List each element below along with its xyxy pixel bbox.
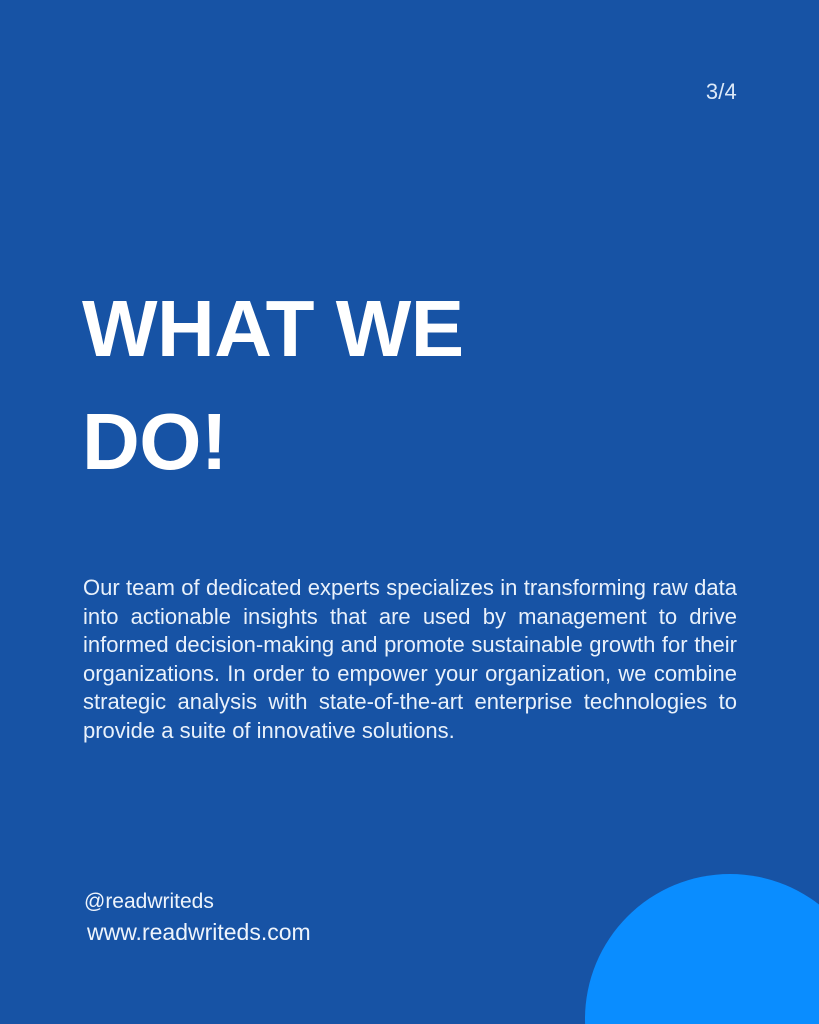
footer-contact: @readwriteds www.readwriteds.com [84,886,311,948]
page-title-line-1: WHAT WE [82,272,742,385]
page-indicator: 3/4 [617,79,737,105]
decorative-corner-circle [585,874,819,1024]
page-title: WHAT WE DO! [82,272,742,498]
social-handle: @readwriteds [84,886,311,917]
body-paragraph: Our team of dedicated experts specialize… [83,574,737,745]
website-url: www.readwriteds.com [87,917,311,948]
page-title-line-2: DO! [82,385,742,498]
slide-canvas: 3/4 WHAT WE DO! Our team of dedicated ex… [0,0,819,1024]
